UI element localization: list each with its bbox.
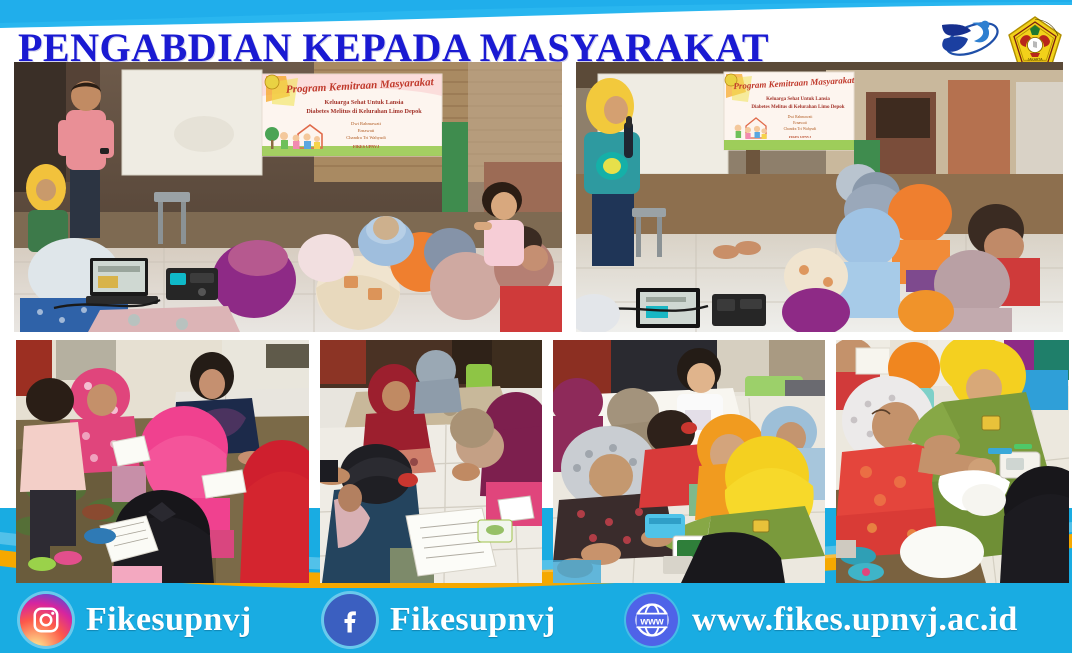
svg-text:www: www: [639, 616, 664, 627]
svg-text:Keluarga Sehat Untuk Lansia: Keluarga Sehat Untuk Lansia: [325, 99, 404, 106]
website-url: www.fikes.upnvj.ac.id: [692, 601, 1018, 639]
social-facebook[interactable]: Fikesupnvj: [324, 594, 556, 646]
svg-text:FIKES UPNVJ: FIKES UPNVJ: [789, 135, 811, 139]
photo-top-left: Program Kemitraan Masyarakat Keluarga Se…: [14, 62, 562, 332]
svg-text:Keluarga Sehat Untuk Lansia: Keluarga Sehat Untuk Lansia: [766, 97, 830, 102]
photo-bottom-1: [16, 340, 309, 583]
facebook-handle: Fikesupnvj: [390, 601, 556, 639]
globe-www-icon[interactable]: www: [626, 594, 678, 646]
svg-text:JAKARTA: JAKARTA: [1028, 58, 1044, 62]
footer-social-bar: Fikesupnvj Fikesupnvj www: [0, 586, 1072, 653]
instagram-icon[interactable]: [20, 594, 72, 646]
svg-text:Chandra Tri Wahyudi: Chandra Tri Wahyudi: [346, 135, 386, 140]
svg-text:Diabetes Melitus di Kelurahan: Diabetes Melitus di Kelurahan Limo Depok: [306, 108, 422, 115]
poster-header: PENGABDIAN KEPADA MASYARAKAT RISTEKDIKTI: [0, 12, 1072, 62]
photo-bottom-2: [320, 340, 542, 583]
facebook-icon[interactable]: [324, 594, 376, 646]
social-website[interactable]: www www.fikes.upnvj.ac.id: [626, 594, 1018, 646]
svg-text:Dwi Rahmawati: Dwi Rahmawati: [351, 121, 382, 126]
svg-text:Chandra Tri Wahyudi: Chandra Tri Wahyudi: [784, 127, 817, 131]
svg-text:FIKES UPNVJ: FIKES UPNVJ: [353, 144, 379, 149]
svg-text:Dwi Rahmawati: Dwi Rahmawati: [788, 115, 813, 119]
photo-bottom-4: [836, 340, 1069, 583]
svg-text:Diabetes Melitus di Kelurahan: Diabetes Melitus di Kelurahan Limo Depok: [751, 105, 844, 110]
poster-canvas: PENGABDIAN KEPADA MASYARAKAT RISTEKDIKTI: [0, 0, 1072, 653]
photo-top-right: Program Kemitraan Masyarakat Keluarga Se…: [576, 62, 1063, 332]
instagram-handle: Fikesupnvj: [86, 601, 252, 639]
social-instagram[interactable]: Fikesupnvj: [20, 594, 252, 646]
photo-bottom-3: [553, 340, 825, 583]
svg-text:Ernawati: Ernawati: [358, 128, 375, 133]
svg-text:Ernawati: Ernawati: [793, 121, 807, 125]
